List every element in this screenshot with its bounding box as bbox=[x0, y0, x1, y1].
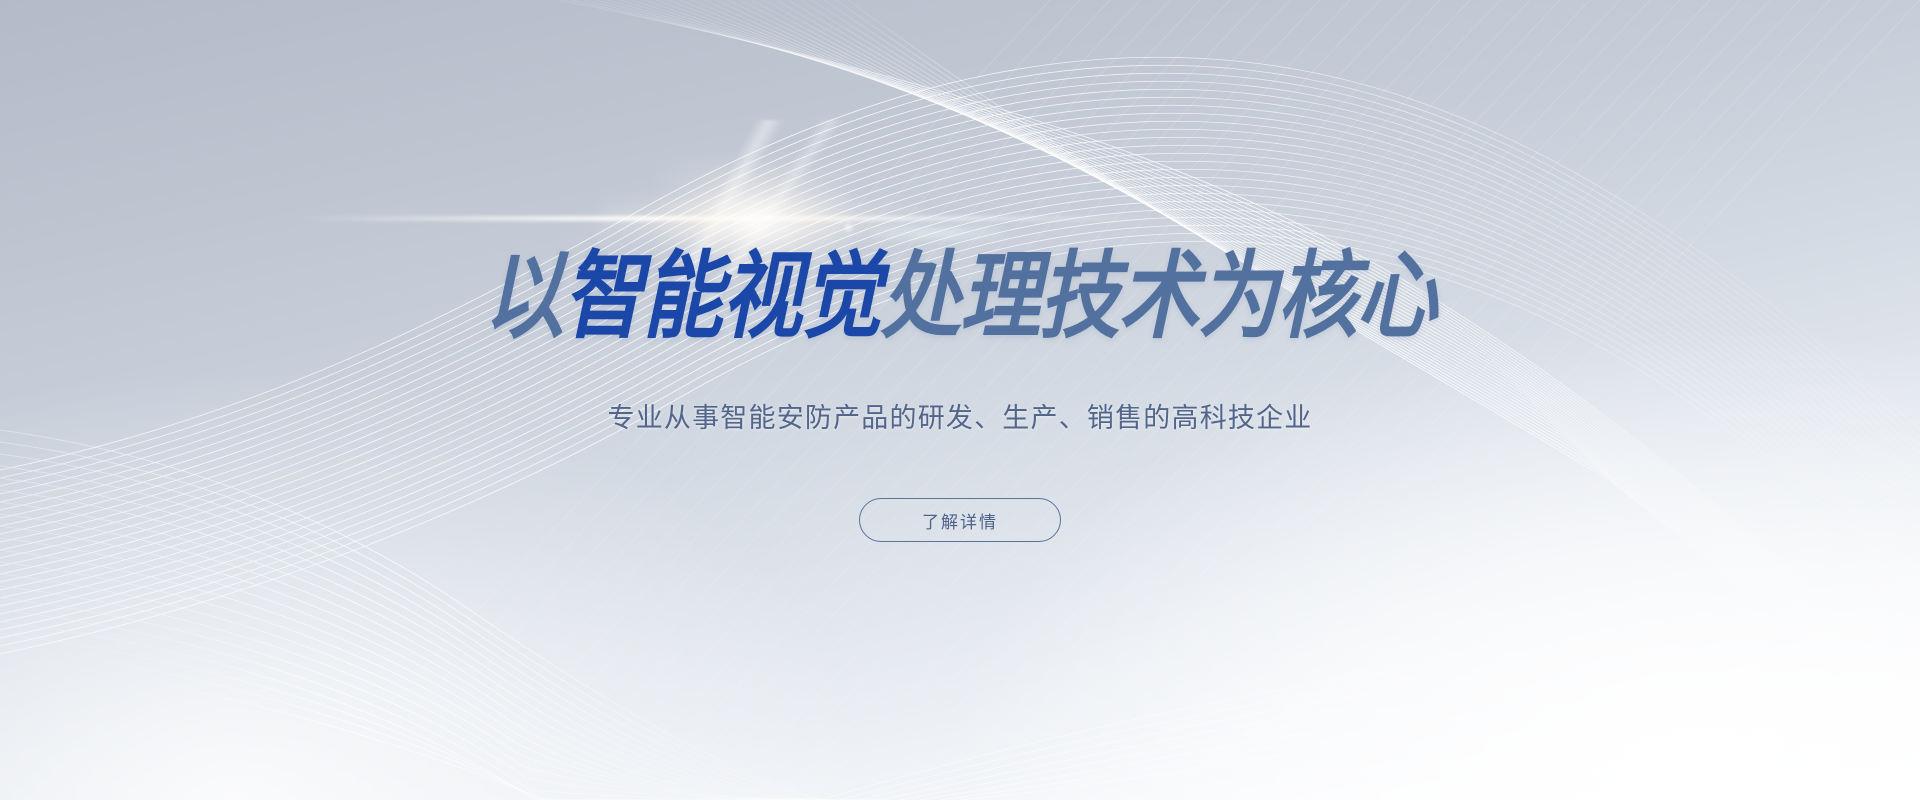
flare-ghost-dot bbox=[842, 222, 855, 233]
hero-content: 以智能视觉处理技术为核心 专业从事智能安防产品的研发、生产、销售的高科技企业 了… bbox=[0, 0, 1920, 800]
title-segment-2: 智能视觉 bbox=[563, 244, 881, 350]
lens-flare bbox=[0, 0, 1920, 800]
page-subtitle: 专业从事智能安防产品的研发、生产、销售的高科技企业 bbox=[608, 396, 1313, 435]
learn-more-button[interactable]: 了解详情 bbox=[859, 498, 1061, 542]
title-segment-1: 以 bbox=[484, 244, 563, 350]
flare-core bbox=[660, 160, 850, 280]
page-title: 以智能视觉处理技术为核心 bbox=[484, 250, 1437, 345]
flare-warm-glow bbox=[600, 196, 920, 244]
wave-mesh-upper bbox=[0, 0, 1920, 800]
flare-rays bbox=[470, 120, 970, 320]
hero-banner: 以智能视觉处理技术为核心 专业从事智能安防产品的研发、生产、销售的高科技企业 了… bbox=[0, 0, 1920, 800]
flare-ghost-cyan bbox=[872, 225, 1004, 241]
flare-streak bbox=[300, 216, 1160, 221]
title-segment-3: 处理技术为核心 bbox=[881, 244, 1437, 350]
